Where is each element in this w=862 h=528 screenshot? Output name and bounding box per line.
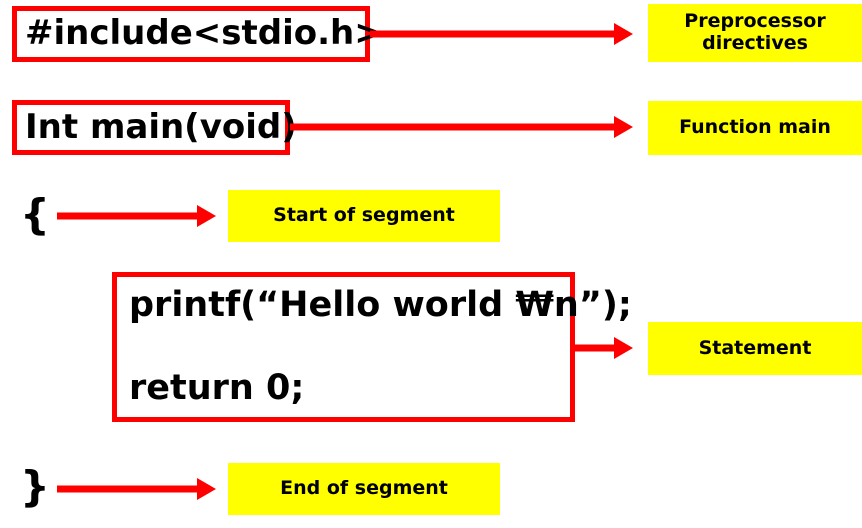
label-statement-text: Statement	[699, 338, 812, 360]
code-box-function-header: Int main(void)	[12, 100, 290, 155]
close-brace-glyph: }	[20, 462, 50, 511]
label-function-main: Function main	[648, 101, 862, 155]
arrow-head	[197, 205, 216, 227]
label-preprocessor-line1: Preprocessor	[684, 11, 825, 33]
arrow-head	[197, 478, 216, 500]
label-start-of-segment-text: Start of segment	[273, 205, 455, 227]
arrow-shaft	[57, 213, 201, 220]
arrow-head	[614, 23, 633, 45]
diagram-canvas: #include<stdio.h> Preprocessor directive…	[0, 0, 862, 528]
open-brace-glyph: {	[20, 190, 50, 239]
code-line-preprocessor: #include<stdio.h>	[25, 16, 357, 52]
arrow-shaft	[57, 486, 201, 493]
label-end-of-segment: End of segment	[228, 463, 500, 515]
arrow-head	[614, 337, 633, 359]
label-function-main-text: Function main	[679, 117, 831, 139]
code-line-return: return 0;	[129, 370, 558, 407]
label-preprocessor-directives: Preprocessor directives	[648, 4, 862, 62]
label-preprocessor-text: Preprocessor directives	[684, 11, 825, 55]
label-statement: Statement	[648, 322, 862, 375]
label-end-of-segment-text: End of segment	[280, 478, 448, 500]
code-open-brace: {	[20, 194, 50, 236]
arrow-shaft	[370, 31, 618, 38]
code-close-brace: }	[20, 466, 50, 508]
code-box-preprocessor: #include<stdio.h>	[12, 6, 370, 62]
arrow-shaft	[290, 124, 618, 131]
arrow-head	[614, 116, 633, 138]
code-box-statements: printf(“Hello world ₩n”); return 0;	[112, 272, 575, 422]
code-line-function-header: Int main(void)	[25, 110, 277, 146]
label-start-of-segment: Start of segment	[228, 190, 500, 242]
code-line-printf: printf(“Hello world ₩n”);	[129, 287, 558, 324]
label-preprocessor-line2: directives	[684, 33, 825, 55]
arrow-shaft	[575, 345, 618, 352]
